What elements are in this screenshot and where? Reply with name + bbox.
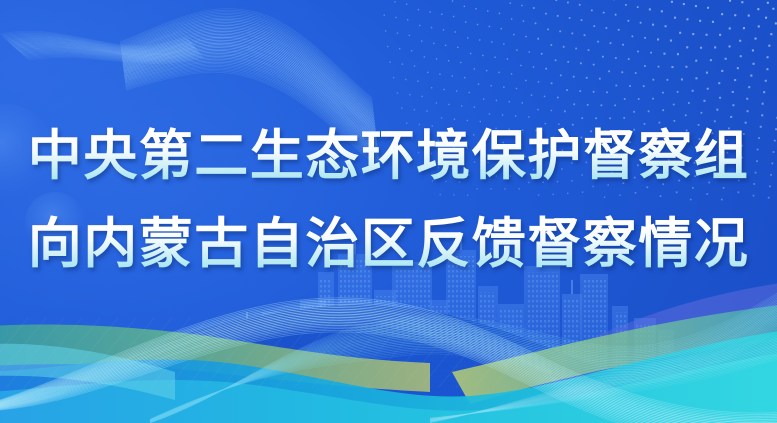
wave-green-band-right — [452, 304, 777, 404]
headline-line-2: 向内蒙古自治区反馈督察情况 — [0, 206, 777, 280]
headline-block: 中央第二生态环境保护督察组 向内蒙古自治区反馈督察情况 — [0, 118, 777, 280]
wave-deep-blue — [0, 305, 777, 423]
wave-violet-tint — [470, 282, 777, 423]
wave-cyan-main — [0, 330, 777, 423]
headline-line-1: 中央第二生态环境保护督察组 — [0, 118, 777, 192]
banner-graphic: 中央第二生态环境保护督察组 向内蒙古自治区反馈督察情况 — [0, 0, 777, 423]
wave-pale-left — [0, 344, 175, 400]
wave-green-band — [0, 325, 430, 392]
wave-cyan-crest — [0, 352, 777, 423]
